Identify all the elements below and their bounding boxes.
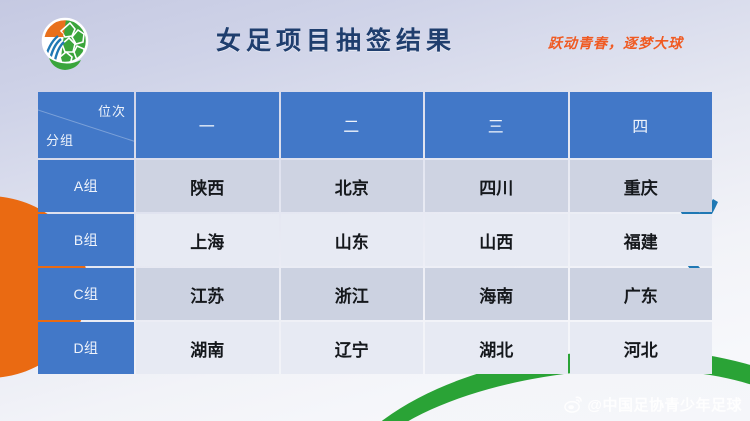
cell-d-4: 河北: [570, 322, 713, 374]
cell-b-3: 山西: [425, 214, 568, 266]
slide-header: 女足项目抽签结果 跃动青春，逐梦大球: [0, 0, 750, 82]
table-header-row: 位次 分组 一 二 三 四: [38, 92, 712, 158]
watermark-text: @中国足协青少年足球: [587, 394, 742, 415]
cell-c-3: 海南: [425, 268, 568, 320]
group-label-c: C组: [38, 268, 134, 320]
column-header-2: 二: [281, 92, 424, 158]
group-label-b: B组: [38, 214, 134, 266]
cell-a-4: 重庆: [570, 160, 713, 212]
column-header-4: 四: [570, 92, 713, 158]
table-row: D组 湖南 辽宁 湖北 河北: [38, 322, 712, 374]
table-row: A组 陕西 北京 四川 重庆: [38, 160, 712, 212]
cell-d-3: 湖北: [425, 322, 568, 374]
sports-emblem-icon: [36, 14, 94, 72]
group-label-a: A组: [38, 160, 134, 212]
page-title: 女足项目抽签结果: [216, 21, 456, 57]
table-row: C组 江苏 浙江 海南 广东: [38, 268, 712, 320]
cell-a-3: 四川: [425, 160, 568, 212]
draw-results-table-container: 位次 分组 一 二 三 四 A组 陕西 北京 四川 重庆: [36, 90, 714, 376]
table-body: A组 陕西 北京 四川 重庆 B组 上海 山东 山西 福建 C组 江苏 浙江: [38, 160, 712, 374]
cell-b-2: 山东: [281, 214, 424, 266]
cell-d-2: 辽宁: [281, 322, 424, 374]
cell-b-4: 福建: [570, 214, 713, 266]
cell-c-1: 江苏: [136, 268, 279, 320]
table-head: 位次 分组 一 二 三 四: [38, 92, 712, 158]
corner-column-label: 位次: [98, 101, 126, 120]
group-label-d: D组: [38, 322, 134, 374]
cell-b-1: 上海: [136, 214, 279, 266]
cell-a-1: 陕西: [136, 160, 279, 212]
weibo-icon: [564, 395, 583, 414]
cell-a-2: 北京: [281, 160, 424, 212]
cell-d-1: 湖南: [136, 322, 279, 374]
table-row: B组 上海 山东 山西 福建: [38, 214, 712, 266]
slogan-text: 跃动青春，逐梦大球: [548, 33, 683, 53]
watermark: @中国足协青少年足球: [564, 394, 742, 415]
draw-results-table: 位次 分组 一 二 三 四 A组 陕西 北京 四川 重庆: [36, 90, 714, 376]
corner-row-label: 分组: [46, 130, 74, 149]
cell-c-4: 广东: [570, 268, 713, 320]
cell-c-2: 浙江: [281, 268, 424, 320]
column-header-3: 三: [425, 92, 568, 158]
corner-header-cell: 位次 分组: [38, 92, 134, 158]
column-header-1: 一: [136, 92, 279, 158]
slide-canvas: 女足项目抽签结果 跃动青春，逐梦大球 位次 分组 一: [0, 0, 750, 421]
